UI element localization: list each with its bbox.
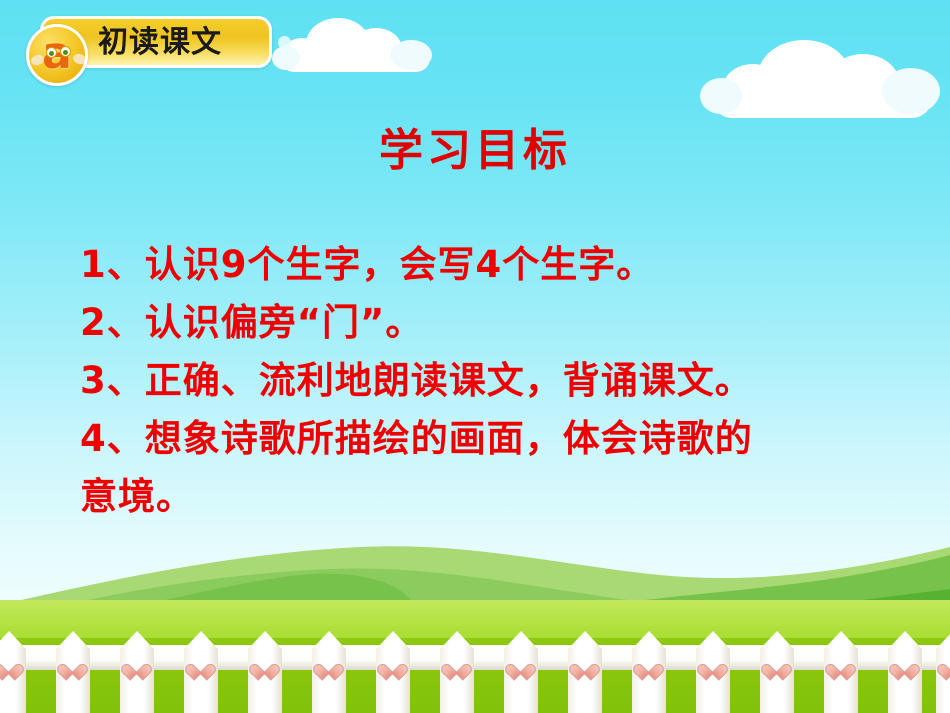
heart-icon: [255, 657, 275, 675]
fence-picket: [696, 631, 730, 713]
fence-picket: [632, 631, 666, 713]
objective-line-2: 2、认识偏旁“门”。: [80, 294, 900, 352]
objective-line-3: 3、正确、流利地朗读课文，背诵课文。: [80, 352, 900, 410]
fence-picket: [120, 631, 154, 713]
fence-picket: [184, 631, 218, 713]
fence-picket: [376, 631, 410, 713]
mascot-eye-right: [60, 46, 71, 57]
heart-icon: [0, 657, 19, 675]
fence-picket: [504, 631, 538, 713]
page-title: 学习目标: [0, 114, 950, 178]
fence-picket: [888, 631, 922, 713]
heart-icon: [127, 657, 147, 675]
objective-line-1: 1、认识9个生字，会写4个生字。: [80, 236, 900, 294]
slide-canvas: a 初读课文 学习目标 1、认识9个生字，会写4个生字。 2、认识偏旁“门”。 …: [0, 0, 950, 713]
fence-picket: [568, 631, 602, 713]
objective-line-4: 4、想象诗歌所描绘的画面，体会诗歌的: [80, 410, 900, 468]
heart-icon: [319, 657, 339, 675]
heart-icon: [447, 657, 467, 675]
heart-icon: [639, 657, 659, 675]
mascot-eye-left: [46, 47, 57, 58]
fence-picket: [936, 631, 950, 713]
fence-picket: [440, 631, 474, 713]
pinyin-a-mascot-icon: a: [26, 24, 88, 86]
heart-icon: [575, 657, 595, 675]
objectives-list: 1、认识9个生字，会写4个生字。 2、认识偏旁“门”。 3、正确、流利地朗读课文…: [80, 236, 900, 526]
heart-icon: [767, 657, 787, 675]
fence-picket: [56, 631, 90, 713]
heart-icon: [703, 657, 723, 675]
section-banner: a 初读课文: [12, 14, 274, 70]
fence-picket: [0, 631, 26, 713]
fence-picket: [312, 631, 346, 713]
fence-picket: [824, 631, 858, 713]
banner-accent-dot: [278, 36, 291, 49]
heart-icon: [191, 657, 211, 675]
picket-fence: [0, 623, 950, 713]
heart-icon: [63, 657, 83, 675]
heart-icon: [831, 657, 851, 675]
fence-picket: [248, 631, 282, 713]
heart-icon: [943, 657, 950, 675]
heart-icon: [511, 657, 531, 675]
banner-label: 初读课文: [98, 23, 266, 63]
heart-icon: [895, 657, 915, 675]
heart-icon: [383, 657, 403, 675]
cloud-top-left-icon: [272, 14, 442, 76]
fence-picket: [760, 631, 794, 713]
cloud-top-right-icon: [700, 38, 945, 124]
